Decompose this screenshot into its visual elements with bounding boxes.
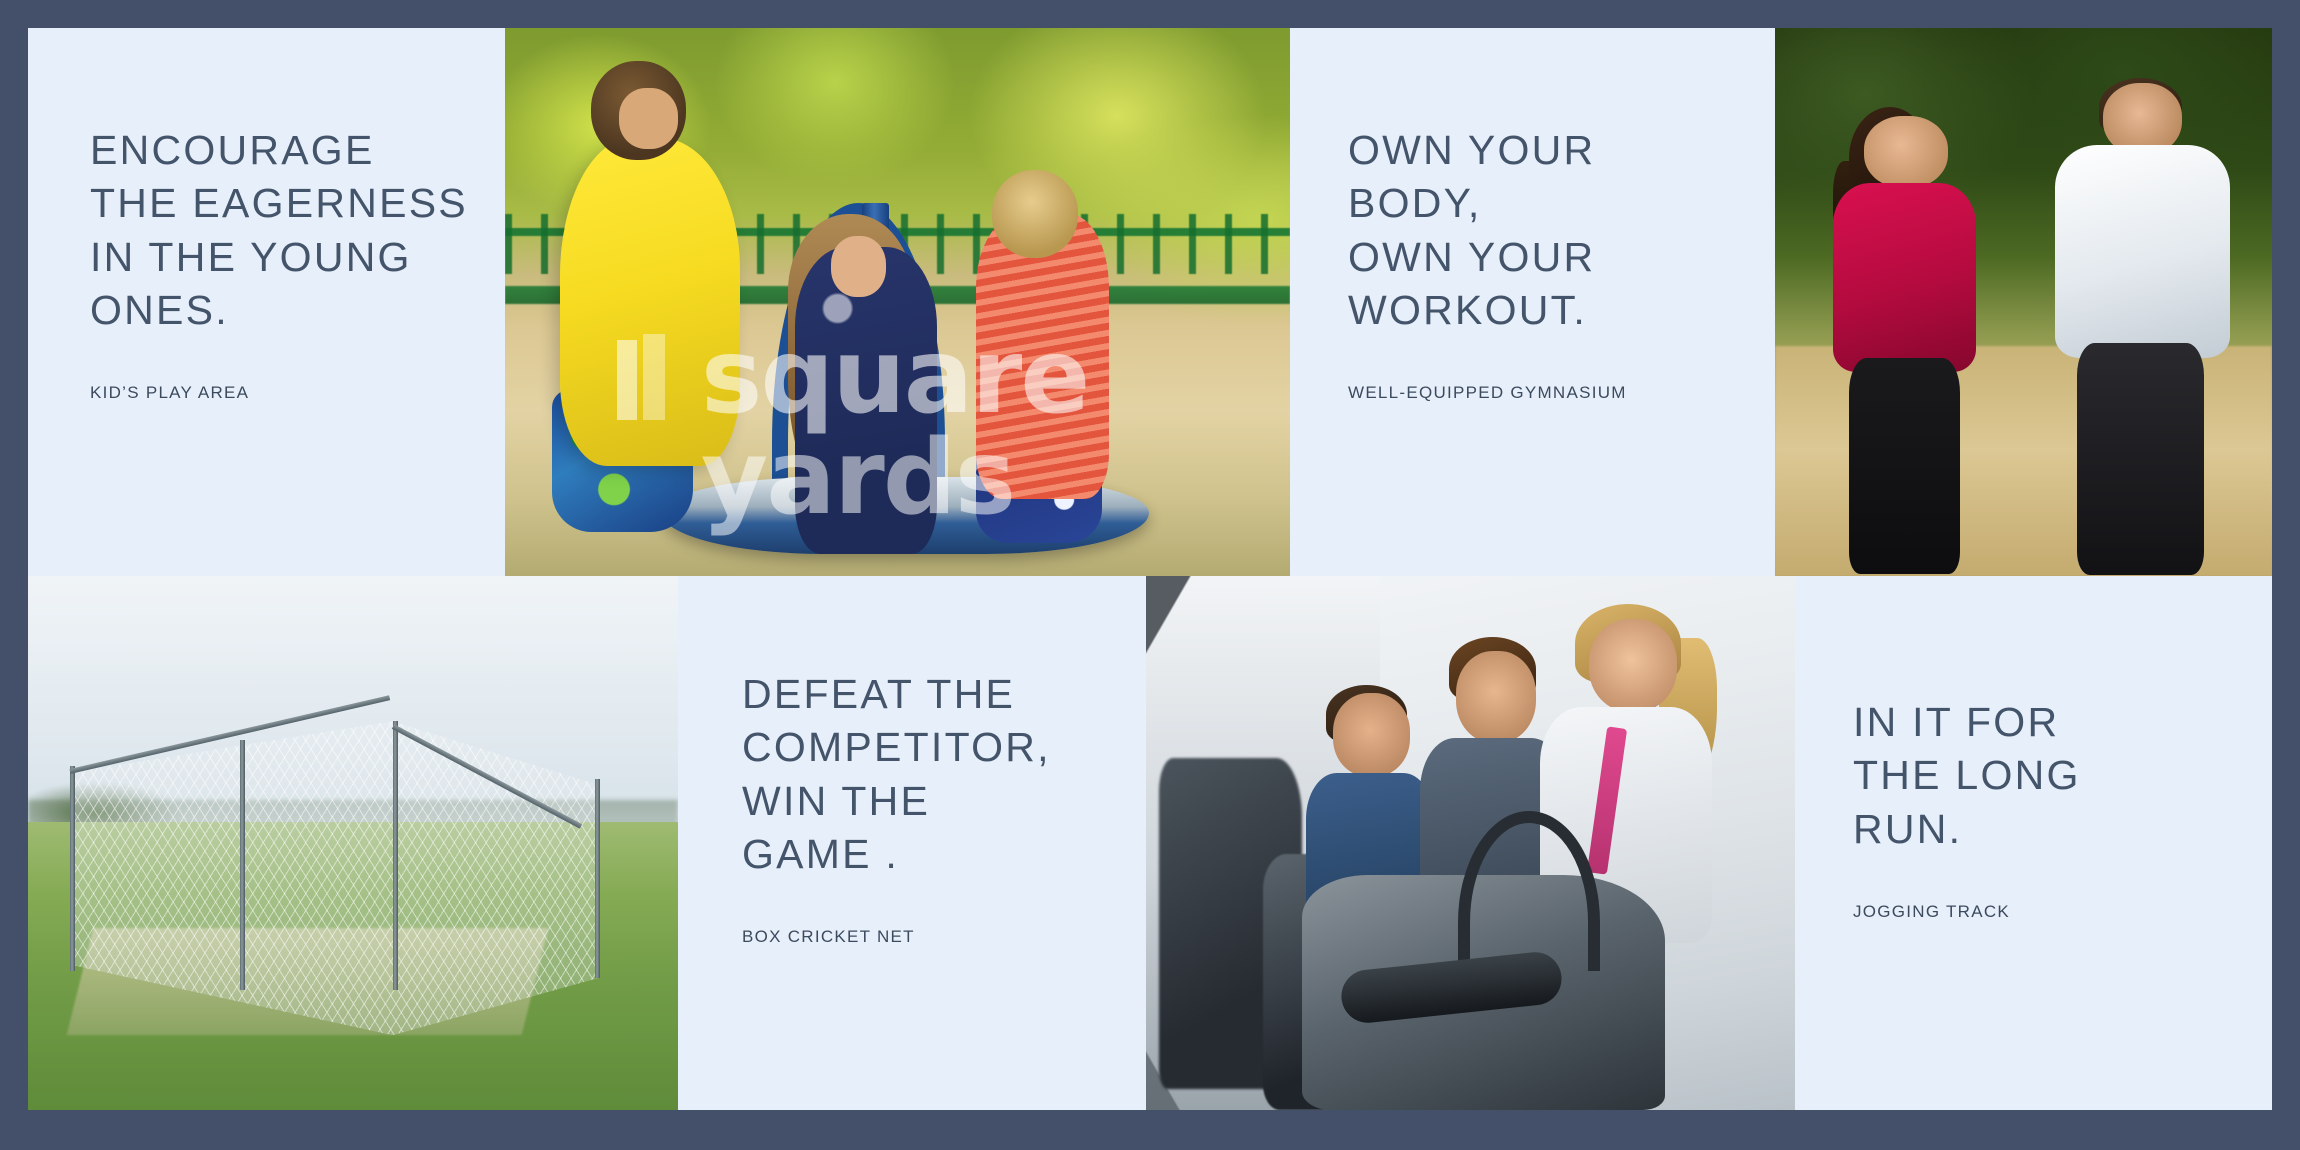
cage-post bbox=[70, 766, 75, 971]
woman-head bbox=[1864, 116, 1947, 188]
cage-post bbox=[393, 721, 398, 990]
headline-jogging-track: IN IT FOR THE LONG RUN. bbox=[1853, 696, 2253, 856]
jogger-woman bbox=[1805, 116, 2004, 565]
boy-yellow-shirt bbox=[560, 138, 741, 467]
subtitle-box-cricket-net: BOX CRICKET NET bbox=[742, 927, 1134, 947]
brochure-page: ENCOURAGE THE EAGERNESS IN THE YOUNG ONE… bbox=[0, 0, 2300, 1150]
panel-box-cricket-net: DEFEAT THE COMPETITOR, WIN THE GAME . BO… bbox=[678, 576, 1146, 1110]
cage-post bbox=[595, 779, 600, 978]
woman-leggings bbox=[1849, 358, 1960, 574]
panel-gymnasium: OWN YOUR BODY, OWN YOUR WORKOUT. WELL-EQ… bbox=[1290, 28, 1775, 576]
cage-post bbox=[240, 740, 245, 990]
net-mesh bbox=[54, 715, 600, 1035]
woman-pink-top bbox=[1833, 183, 1976, 372]
jogger-man bbox=[2033, 83, 2252, 565]
brochure-canvas: ENCOURAGE THE EAGERNESS IN THE YOUNG ONE… bbox=[28, 28, 2272, 1110]
panel-jogging-track: IN IT FOR THE LONG RUN. JOGGING TRACK bbox=[1795, 576, 2272, 1110]
man-white-shirt bbox=[2055, 145, 2230, 357]
boy-yellow-face bbox=[619, 88, 678, 148]
man-head bbox=[2103, 83, 2182, 155]
headline-kids-play-area: ENCOURAGE THE EAGERNESS IN THE YOUNG ONE… bbox=[90, 124, 490, 337]
man-pants bbox=[2077, 343, 2204, 574]
person-back-head bbox=[1333, 693, 1411, 776]
subtitle-gymnasium: WELL-EQUIPPED GYMNASIUM bbox=[1348, 383, 1768, 403]
headline-gymnasium: OWN YOUR BODY, OWN YOUR WORKOUT. bbox=[1348, 124, 1768, 337]
cricket-net-cage bbox=[54, 715, 600, 1035]
girl-face bbox=[831, 236, 886, 296]
playground-photo bbox=[505, 28, 1290, 576]
headline-box-cricket-net: DEFEAT THE COMPETITOR, WIN THE GAME . bbox=[742, 668, 1134, 881]
person-front-head bbox=[1589, 619, 1677, 712]
gym-photo bbox=[1146, 576, 1795, 1110]
panel-kids-play-area: ENCOURAGE THE EAGERNESS IN THE YOUNG ONE… bbox=[28, 28, 505, 576]
subtitle-kids-play-area: KID’S PLAY AREA bbox=[90, 383, 490, 403]
subtitle-jogging-track: JOGGING TRACK bbox=[1853, 902, 2253, 922]
jogging-photo bbox=[1775, 28, 2272, 576]
cricket-net-photo bbox=[28, 576, 678, 1110]
boy-red-head bbox=[992, 170, 1078, 258]
